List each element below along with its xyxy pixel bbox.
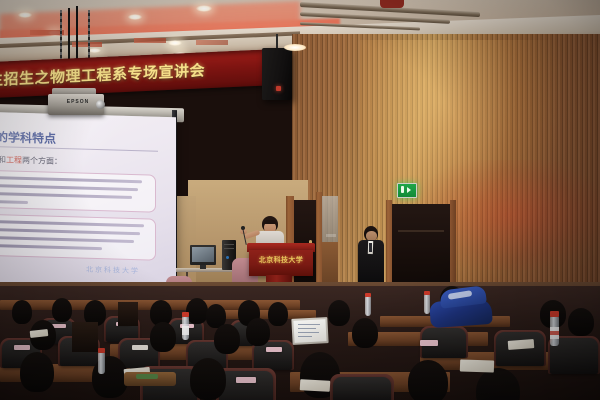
handout-paper[interactable] bbox=[460, 359, 494, 372]
audience-head bbox=[214, 324, 240, 354]
monitor-screen bbox=[192, 247, 214, 262]
ceiling-light-trough bbox=[196, 40, 228, 45]
pa-speaker-led-icon bbox=[276, 86, 281, 91]
tower-drive-bay bbox=[224, 244, 234, 245]
downlight bbox=[18, 12, 32, 18]
audience-head bbox=[12, 300, 32, 324]
downlight bbox=[284, 44, 306, 51]
wall-marking bbox=[326, 234, 336, 237]
audience-head bbox=[150, 322, 176, 352]
audience-head bbox=[20, 352, 54, 392]
audience-head bbox=[118, 302, 138, 326]
audience-seat[interactable] bbox=[333, 377, 391, 400]
downlight bbox=[128, 14, 142, 20]
seat-number-tag bbox=[14, 345, 30, 350]
audience-head bbox=[52, 298, 72, 322]
tower-power-led-icon bbox=[226, 256, 229, 259]
slide-watermark: 北京科技大学 bbox=[86, 265, 162, 277]
pa-speaker bbox=[262, 48, 292, 100]
ceiling-light-trough bbox=[134, 38, 166, 43]
projector-brand-label: EPSON bbox=[58, 99, 98, 105]
bottle-cap bbox=[424, 291, 430, 295]
water-bottle[interactable] bbox=[424, 294, 430, 314]
bag-detail bbox=[136, 374, 158, 379]
exit-person-icon bbox=[401, 186, 404, 193]
microphone-icon bbox=[241, 226, 245, 230]
door-rail bbox=[398, 230, 444, 232]
photo-scene: 生招生之物理工程系专场宣讲会 程的学科特点 科学和工程两个方面： 北京科技大学 bbox=[0, 0, 600, 400]
audience-head bbox=[190, 358, 226, 400]
event-banner-text: 生招生之物理工程系专场宣讲会 bbox=[0, 56, 278, 90]
bottle-cap bbox=[550, 311, 559, 317]
laptop-doc-line bbox=[298, 324, 320, 325]
tower-drive-bay bbox=[224, 248, 234, 249]
audience-head bbox=[72, 322, 98, 352]
audience-head bbox=[328, 300, 350, 326]
laptop-doc-line bbox=[298, 328, 316, 329]
audience-head bbox=[568, 308, 594, 336]
seat-number-tag bbox=[420, 340, 438, 346]
projection-screen: 程的学科特点 科学和工程两个方面： 北京科技大学 bbox=[0, 112, 176, 297]
audience-head bbox=[352, 318, 378, 348]
bottle-label bbox=[182, 326, 189, 335]
handout-paper[interactable] bbox=[508, 339, 535, 350]
podium-text: 北京科技大学 bbox=[252, 255, 310, 265]
seat-number-tag bbox=[236, 377, 256, 383]
audience-seat[interactable] bbox=[219, 371, 273, 400]
bottle-cap bbox=[182, 312, 189, 317]
projector-lens-icon bbox=[96, 100, 105, 109]
bottle-cap bbox=[365, 293, 371, 297]
staff-tie bbox=[369, 243, 372, 252]
slide-text-line bbox=[0, 200, 28, 204]
seat-number-tag bbox=[132, 345, 148, 350]
slide-subtitle-part-3: 工程 bbox=[6, 155, 22, 164]
ceiling-light-trough bbox=[30, 30, 64, 35]
handout-paper[interactable] bbox=[300, 379, 331, 392]
monitor-stand bbox=[200, 265, 206, 269]
audience-head bbox=[408, 360, 448, 400]
audience-head bbox=[246, 318, 270, 346]
laptop-screen bbox=[293, 319, 326, 343]
downlight bbox=[168, 40, 182, 46]
water-bottle[interactable] bbox=[365, 296, 371, 316]
laptop-doc-line bbox=[298, 336, 312, 337]
exit-arrow-icon bbox=[407, 187, 411, 193]
seat-number-tag bbox=[266, 347, 282, 352]
audience-head bbox=[186, 298, 208, 324]
audience-head bbox=[268, 302, 288, 326]
water-bottle[interactable] bbox=[98, 352, 105, 374]
ceiling-fire-pipe bbox=[380, 0, 404, 8]
slide-subtitle: 科学和工程两个方面： bbox=[0, 154, 152, 170]
laptop-doc-line bbox=[298, 332, 319, 333]
slide-subtitle-part-4: 两个方面： bbox=[22, 156, 62, 166]
presenter-hair-front bbox=[264, 220, 276, 224]
downlight bbox=[196, 5, 212, 12]
bottle-cap bbox=[98, 348, 105, 353]
bottle-label-band bbox=[550, 331, 559, 335]
